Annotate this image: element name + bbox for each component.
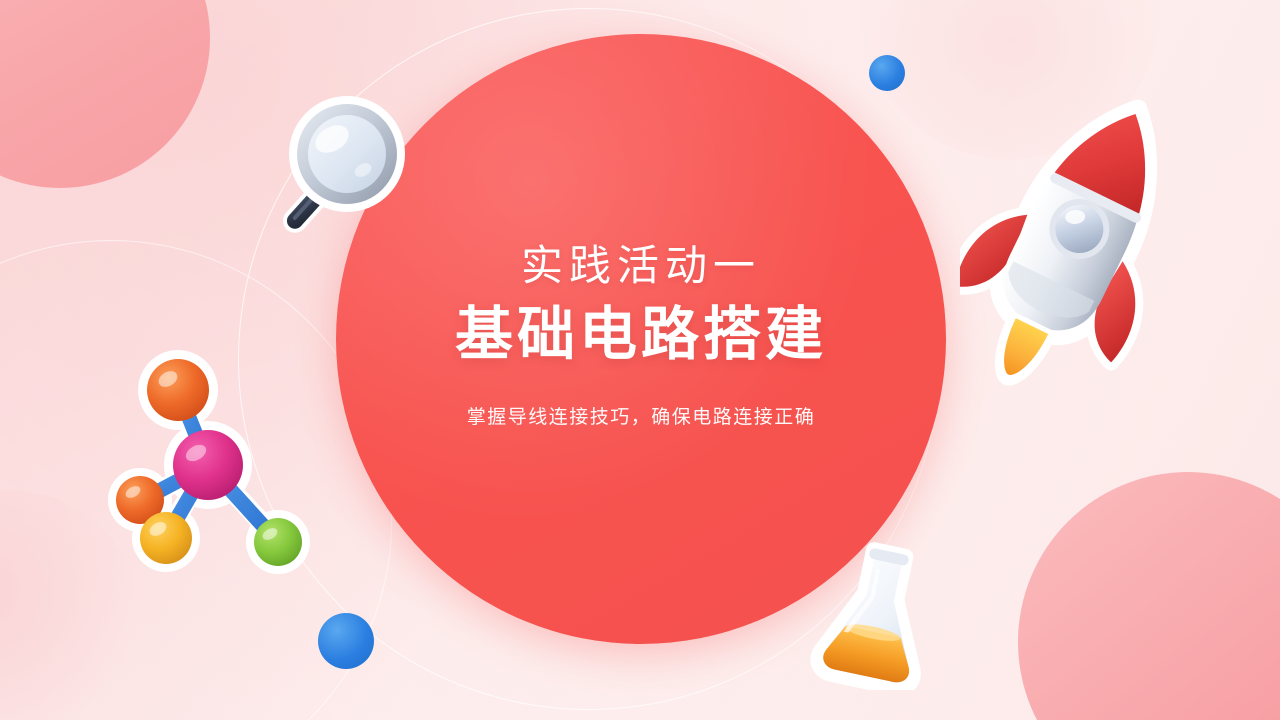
- title-block: 实践活动一 基础电路搭建 掌握导线连接技巧，确保电路连接正确: [336, 240, 946, 429]
- presentation-slide: 实践活动一 基础电路搭建 掌握导线连接技巧，确保电路连接正确: [0, 0, 1280, 720]
- title-line-1: 实践活动一: [336, 240, 946, 293]
- blue-dot-bottom: [318, 613, 374, 669]
- magnifier-sticker: [262, 82, 432, 252]
- title-line-2: 基础电路搭建: [336, 297, 946, 372]
- blue-dot-top: [869, 55, 905, 91]
- flask-sticker: [806, 540, 946, 690]
- molecule-sticker: [80, 330, 330, 590]
- slide-subtitle: 掌握导线连接技巧，确保电路连接正确: [336, 402, 946, 429]
- rocket-sticker: [960, 88, 1190, 398]
